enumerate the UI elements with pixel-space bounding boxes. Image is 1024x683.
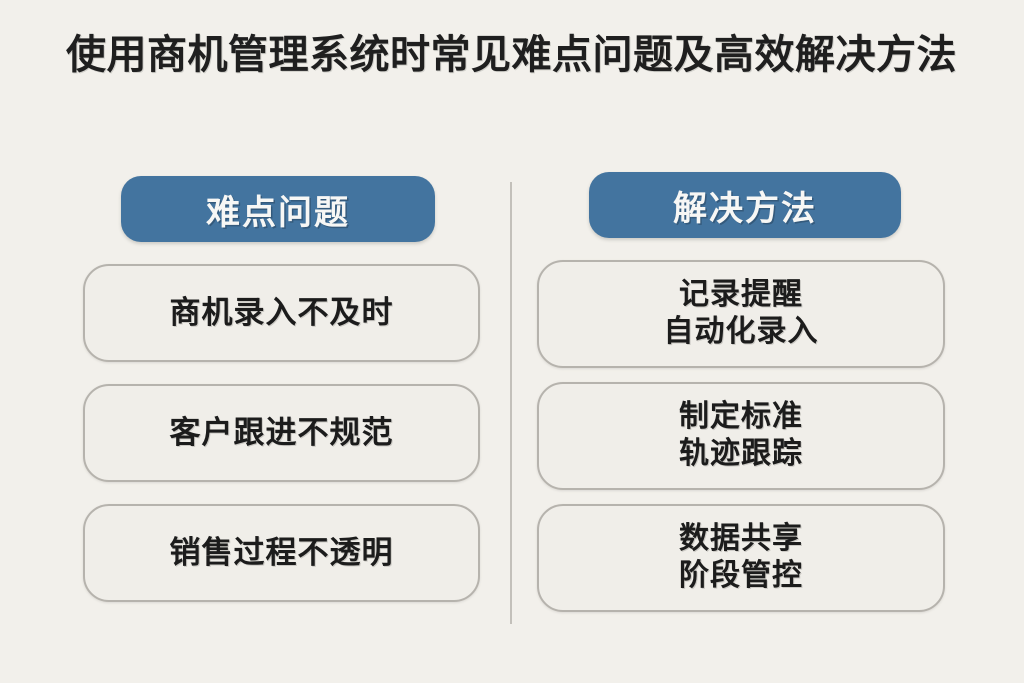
problem-card-list: 商机录入不及时 客户跟进不规范 销售过程不透明 bbox=[83, 264, 480, 624]
problem-card[interactable]: 商机录入不及时 bbox=[83, 264, 480, 362]
solution-card[interactable]: 记录提醒 自动化录入 bbox=[537, 260, 945, 368]
column-header-problems-label: 难点问题 bbox=[206, 185, 350, 234]
problem-card-line-1: 销售过程不透明 bbox=[170, 534, 394, 572]
solution-card-line-1: 制定标准 bbox=[679, 399, 803, 436]
solution-card-text: 记录提醒 自动化录入 bbox=[664, 277, 819, 350]
column-header-solutions: 解决方法 bbox=[589, 172, 901, 238]
comparison-board: 难点问题 商机录入不及时 客户跟进不规范 销售过程不透明 解决方法 bbox=[0, 168, 1024, 638]
solution-card-line-2: 阶段管控 bbox=[679, 558, 803, 595]
column-header-problems: 难点问题 bbox=[121, 176, 435, 242]
problem-card-text: 商机录入不及时 bbox=[170, 294, 394, 332]
column-solutions: 解决方法 记录提醒 自动化录入 制定标准 轨迹跟踪 数据共享 阶段管控 bbox=[537, 168, 937, 626]
solution-card[interactable]: 制定标准 轨迹跟踪 bbox=[537, 382, 945, 490]
problem-card[interactable]: 客户跟进不规范 bbox=[83, 384, 480, 482]
solution-card-line-1: 数据共享 bbox=[679, 521, 803, 558]
problem-card-text: 销售过程不透明 bbox=[170, 534, 394, 572]
page-title: 使用商机管理系统时常见难点问题及高效解决方法 bbox=[66, 30, 976, 80]
problem-card-line-1: 客户跟进不规范 bbox=[170, 414, 394, 452]
problem-card-line-1: 商机录入不及时 bbox=[170, 294, 394, 332]
solution-card-line-1: 记录提醒 bbox=[664, 277, 819, 314]
solution-card-text: 数据共享 阶段管控 bbox=[679, 521, 803, 594]
column-header-solutions-label: 解决方法 bbox=[673, 181, 817, 230]
solution-card-line-2: 轨迹跟踪 bbox=[679, 436, 803, 473]
column-divider bbox=[510, 182, 512, 624]
solution-card-text: 制定标准 轨迹跟踪 bbox=[679, 399, 803, 472]
solution-card-line-2: 自动化录入 bbox=[664, 314, 819, 351]
solution-card-list: 记录提醒 自动化录入 制定标准 轨迹跟踪 数据共享 阶段管控 bbox=[537, 260, 945, 626]
problem-card-text: 客户跟进不规范 bbox=[170, 414, 394, 452]
column-problems: 难点问题 商机录入不及时 客户跟进不规范 销售过程不透明 bbox=[83, 168, 483, 624]
problem-card[interactable]: 销售过程不透明 bbox=[83, 504, 480, 602]
solution-card[interactable]: 数据共享 阶段管控 bbox=[537, 504, 945, 612]
